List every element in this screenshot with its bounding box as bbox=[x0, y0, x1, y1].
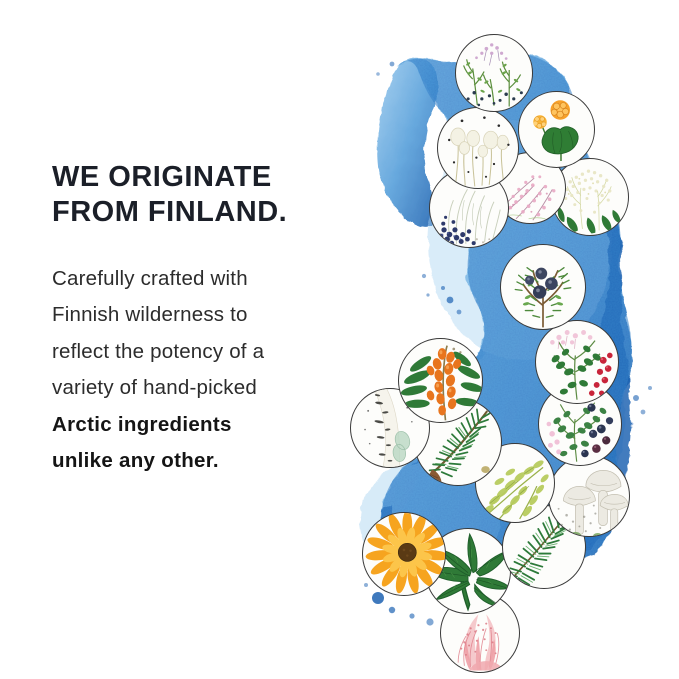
circle-lingonberry bbox=[535, 320, 619, 404]
circle-chaga-mushroom bbox=[548, 455, 630, 537]
cotton-grass-illustration bbox=[438, 108, 518, 188]
paragraph-line-1: Carefully crafted with bbox=[52, 261, 362, 297]
page-title: WE ORIGINATE FROM FINLAND. bbox=[52, 160, 362, 231]
circle-sea-buckthorn bbox=[398, 338, 483, 423]
cloudberry-illustration bbox=[519, 92, 594, 167]
circle-juniper bbox=[500, 244, 586, 330]
copy-block: WE ORIGINATE FROM FINLAND. Carefully cra… bbox=[52, 160, 362, 480]
lingonberry-illustration bbox=[536, 321, 618, 403]
heather-illustration bbox=[456, 35, 532, 111]
body-paragraph: Carefully crafted with Finnish wildernes… bbox=[52, 261, 362, 480]
paragraph-line-2: Finnish wilderness to bbox=[52, 297, 362, 333]
chaga-mushroom-illustration bbox=[549, 456, 629, 536]
calendula-illustration bbox=[363, 513, 445, 595]
circle-cotton-grass bbox=[437, 107, 519, 189]
poster-canvas: WE ORIGINATE FROM FINLAND. Carefully cra… bbox=[0, 0, 679, 679]
pinecone bbox=[428, 470, 442, 485]
circle-calendula bbox=[362, 512, 446, 596]
circle-cloudberry bbox=[518, 91, 595, 168]
paragraph-line-5: Arctic ingredients bbox=[52, 407, 362, 443]
paragraph-line-3: reflect the potency of a bbox=[52, 334, 362, 370]
paragraph-line-6: unlike any other. bbox=[52, 443, 362, 479]
sea-buckthorn-illustration bbox=[399, 339, 482, 422]
circle-heather bbox=[455, 34, 533, 112]
paragraph-line-4: variety of hand-picked bbox=[52, 370, 362, 406]
juniper-illustration bbox=[501, 245, 585, 329]
